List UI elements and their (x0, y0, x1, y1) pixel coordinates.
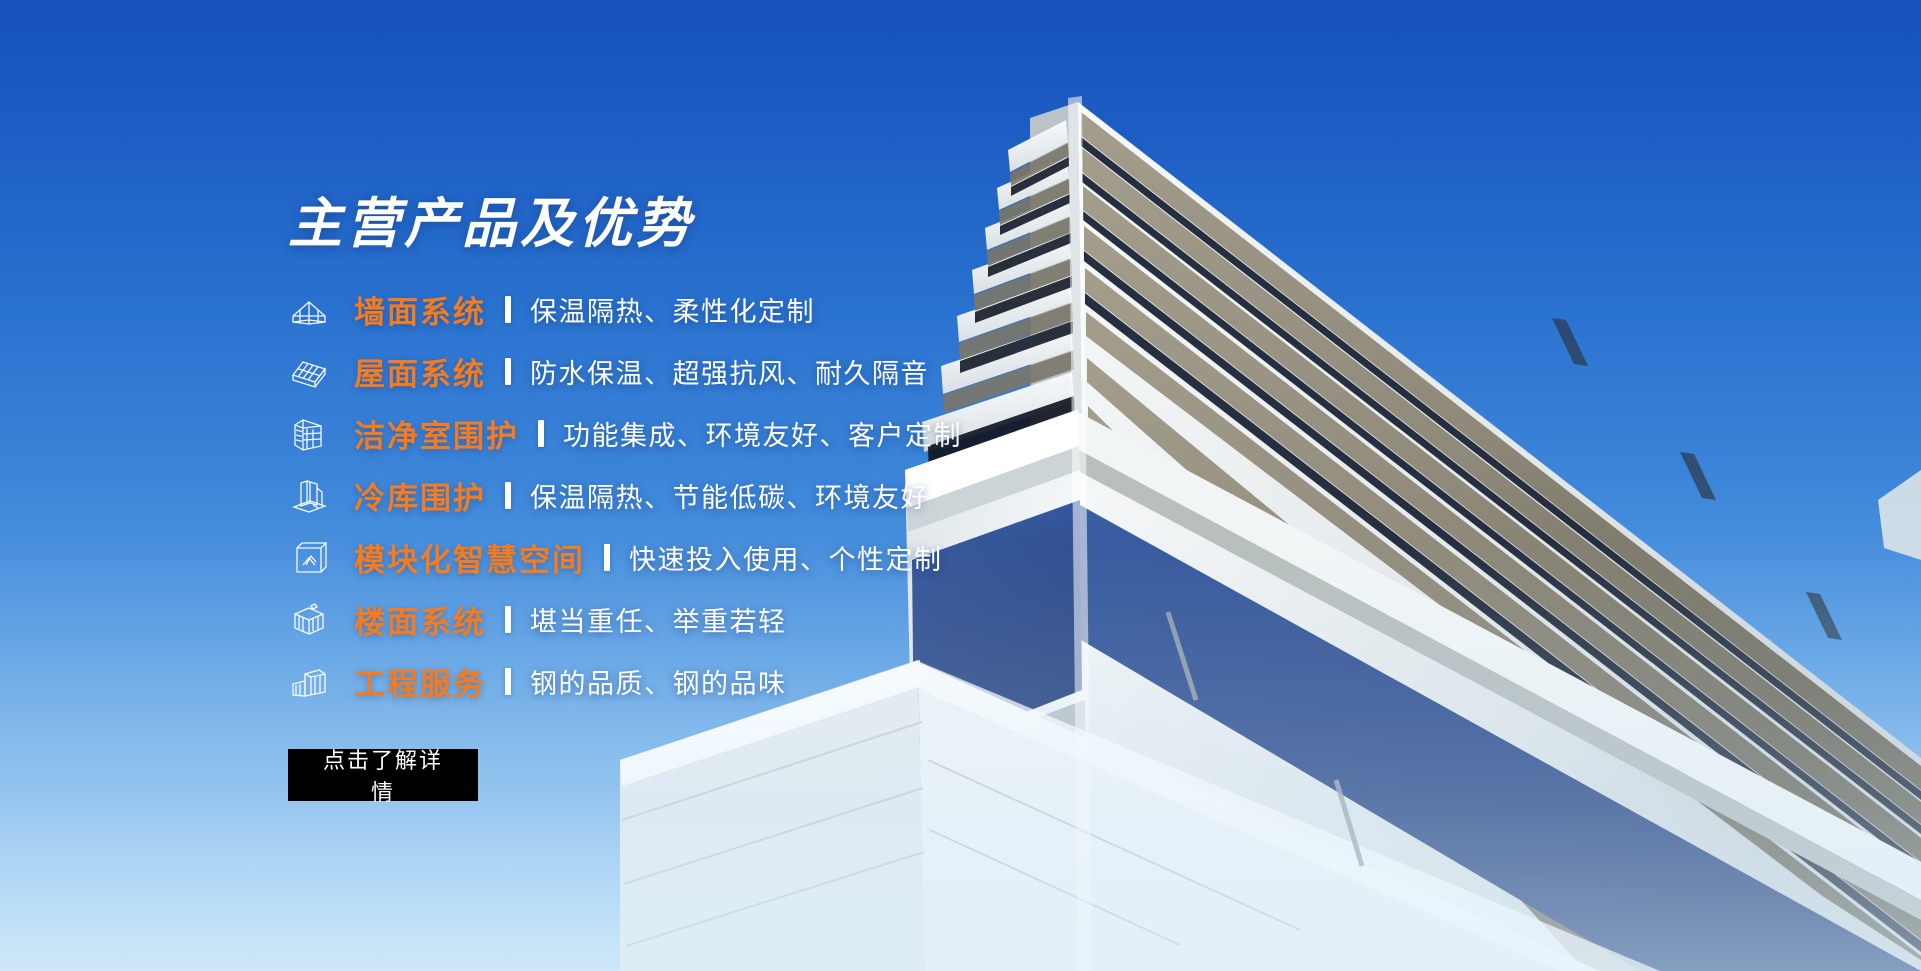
product-category: 楼面系统 (354, 597, 486, 642)
product-category: 墙面系统 (354, 287, 486, 332)
modular-space-icon (288, 537, 330, 579)
product-row-wall-system[interactable]: 墙面系统 保温隔热、柔性化定制 (288, 287, 1288, 333)
learn-more-button[interactable]: 点击了解详情 (288, 749, 478, 801)
product-description: 快速投入使用、个性定制 (629, 538, 943, 577)
product-description: 功能集成、环境友好、客户定制 (563, 414, 962, 453)
roof-system-icon (288, 351, 330, 393)
divider-bar (505, 668, 511, 695)
divider-bar (505, 482, 511, 509)
product-category: 模块化智慧空间 (354, 535, 585, 580)
product-description: 防水保温、超强抗风、耐久隔音 (530, 352, 929, 391)
product-row-roof-system[interactable]: 屋面系统 防水保温、超强抗风、耐久隔音 (288, 349, 1288, 395)
divider-bar (538, 420, 544, 447)
cleanroom-icon (288, 413, 330, 455)
product-description: 保温隔热、柔性化定制 (530, 290, 815, 329)
engineering-icon (288, 661, 330, 703)
product-category: 冷库围护 (354, 473, 486, 518)
product-list: 墙面系统 保温隔热、柔性化定制 屋面系统 防水保温、超强抗风、 (288, 287, 1288, 705)
content-column: 主营产品及优势 墙面系统 保温隔热、柔性化定制 (288, 196, 1288, 801)
product-row-engineering-service[interactable]: 工程服务 钢的品质、钢的品味 (288, 659, 1288, 705)
product-advantages-banner: 主营产品及优势 墙面系统 保温隔热、柔性化定制 (0, 0, 1921, 971)
product-row-cold-storage[interactable]: 冷库围护 保温隔热、节能低碳、环境友好 (288, 473, 1288, 519)
wall-system-icon (288, 289, 330, 331)
product-row-modular-space[interactable]: 模块化智慧空间 快速投入使用、个性定制 (288, 535, 1288, 581)
product-category: 屋面系统 (354, 349, 486, 394)
cold-storage-icon (288, 475, 330, 517)
product-category: 工程服务 (354, 659, 486, 704)
divider-bar (604, 544, 610, 571)
product-row-floor-system[interactable]: 楼面系统 堪当重任、举重若轻 (288, 597, 1288, 643)
page-title: 主营产品及优势 (288, 196, 1288, 253)
product-category: 洁净室围护 (354, 411, 519, 456)
divider-bar (505, 606, 511, 633)
floor-system-icon (288, 599, 330, 641)
product-description: 保温隔热、节能低碳、环境友好 (530, 476, 929, 515)
product-row-cleanroom[interactable]: 洁净室围护 功能集成、环境友好、客户定制 (288, 411, 1288, 457)
divider-bar (505, 358, 511, 385)
divider-bar (505, 296, 511, 323)
product-description: 钢的品质、钢的品味 (530, 662, 787, 701)
product-description: 堪当重任、举重若轻 (530, 600, 787, 639)
